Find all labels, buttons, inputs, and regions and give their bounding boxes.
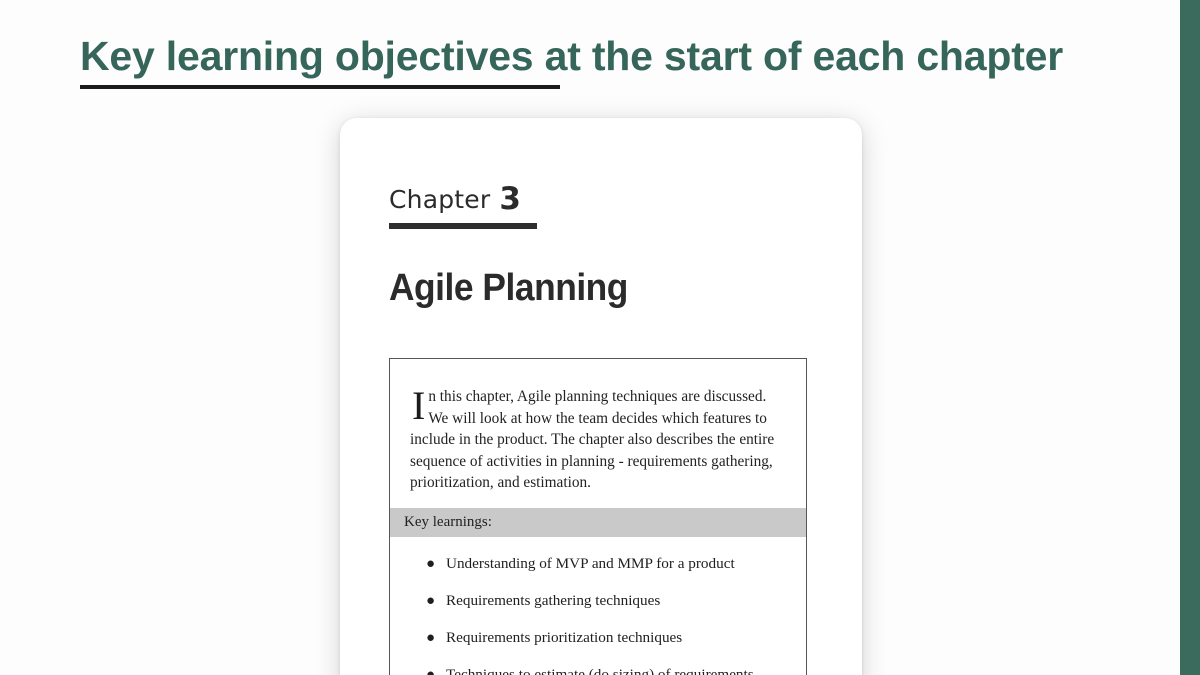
drop-cap-letter: I: [410, 386, 428, 424]
chapter-word-label: Chapter: [389, 185, 490, 214]
book-page-content: Chapter 3 Agile Planning In this chapter…: [389, 180, 813, 675]
list-item-label: Requirements gathering techniques: [446, 592, 660, 609]
bullet-dot-icon: ●: [426, 628, 435, 648]
list-item: ● Techniques to estimate (do sizing) of …: [390, 665, 806, 675]
bullet-dot-icon: ●: [426, 554, 435, 574]
book-page-card: Chapter 3 Agile Planning In this chapter…: [340, 118, 862, 675]
list-item: ● Requirements prioritization techniques: [390, 628, 806, 648]
bullet-dot-icon: ●: [426, 591, 435, 611]
key-learnings-header: Key learnings:: [390, 508, 806, 537]
slide-canvas: Key learning objectives at the start of …: [0, 0, 1200, 675]
list-item-label: Understanding of MVP and MMP for a produ…: [446, 555, 735, 572]
list-item-label: Requirements prioritization techniques: [446, 629, 682, 646]
list-item: ● Understanding of MVP and MMP for a pro…: [390, 554, 806, 574]
list-item: ● Requirements gathering techniques: [390, 591, 806, 611]
chapter-intro-text: n this chapter, Agile planning technique…: [410, 388, 774, 491]
chapter-intro-paragraph: In this chapter, Agile planning techniqu…: [390, 359, 806, 508]
slide-heading: Key learning objectives at the start of …: [80, 24, 1140, 88]
chapter-eyebrow: Chapter 3: [389, 180, 813, 216]
key-learnings-box: In this chapter, Agile planning techniqu…: [389, 358, 807, 675]
chapter-title: Agile Planning: [389, 267, 783, 310]
list-item-label: Techniques to estimate (do sizing) of re…: [446, 666, 754, 675]
chapter-number-label: 3: [499, 181, 521, 217]
bullet-dot-icon: ●: [426, 665, 435, 675]
heading-underline-rule: [80, 85, 560, 89]
key-learnings-list: ● Understanding of MVP and MMP for a pro…: [390, 537, 806, 675]
chapter-rule: [389, 223, 537, 229]
right-accent-bar: [1180, 0, 1200, 675]
